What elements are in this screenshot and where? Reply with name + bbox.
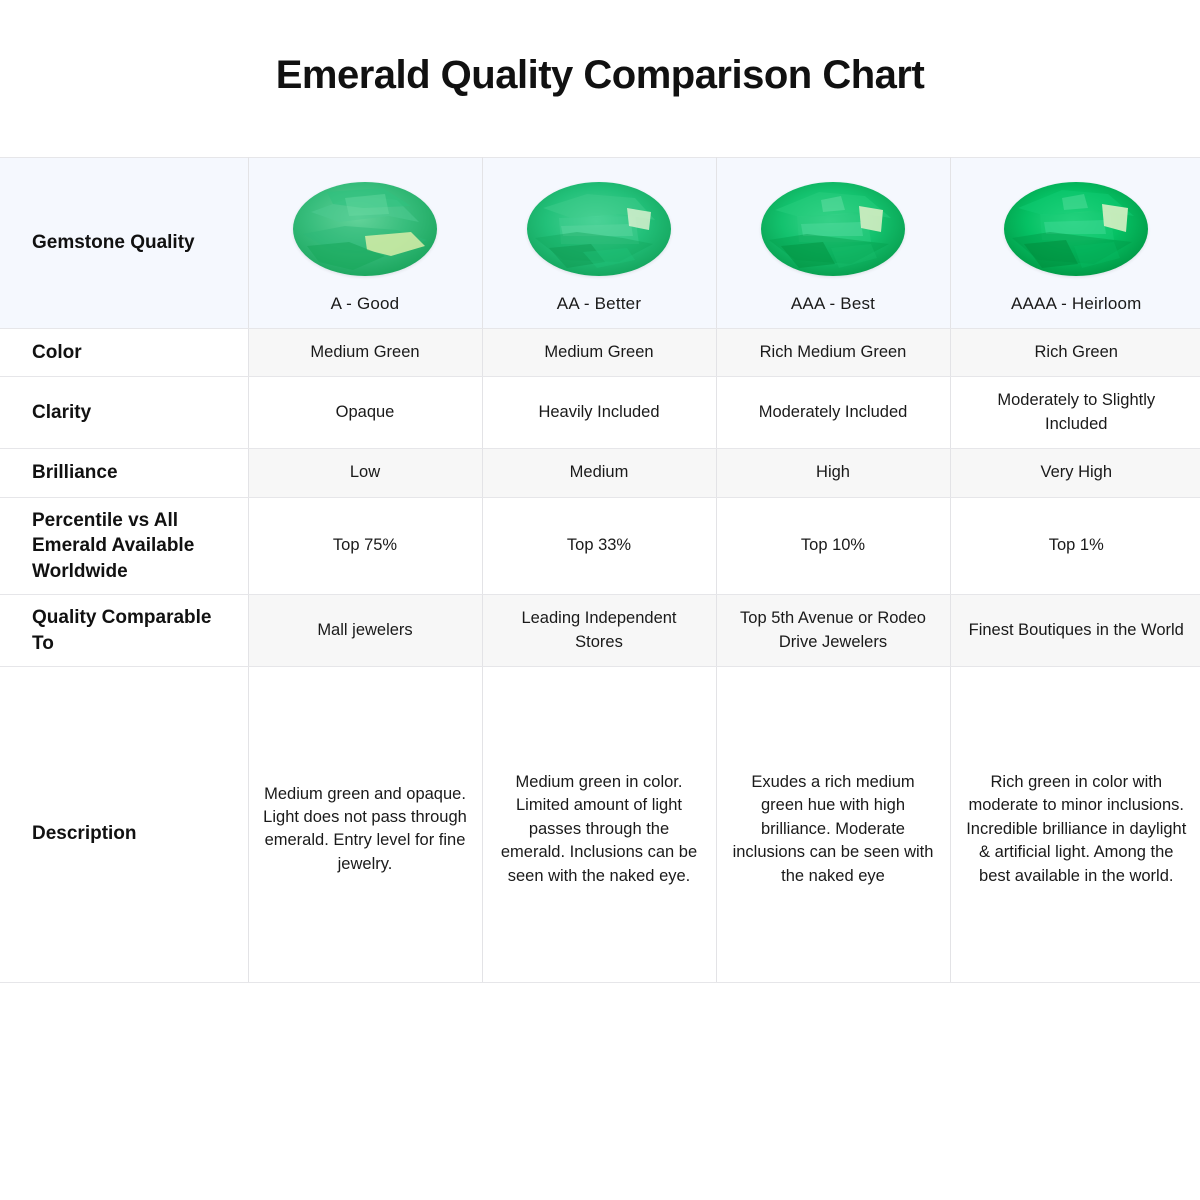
row-label-description: Description <box>0 666 248 982</box>
cell-clarity-aaa: Moderately Included <box>716 377 950 449</box>
gem-caption-aaaa: AAAA - Heirloom <box>1011 294 1142 314</box>
emerald-oval-aaaa-icon <box>1004 182 1148 276</box>
row-label-comparable: Quality Comparable To <box>0 595 248 667</box>
cell-percentile-aaaa: Top 1% <box>950 497 1200 594</box>
gem-caption-a: A - Good <box>331 294 400 314</box>
row-label-color: Color <box>0 329 248 377</box>
row-label-gemstone-quality: Gemstone Quality <box>0 158 248 329</box>
cell-comparable-aa: Leading Independent Stores <box>482 595 716 667</box>
table-row-percentile: Percentile vs All Emerald Available Worl… <box>0 497 1200 594</box>
cell-description-aaaa: Rich green in color with moderate to min… <box>950 666 1200 982</box>
row-label-clarity: Clarity <box>0 377 248 449</box>
table-row-clarity: Clarity Opaque Heavily Included Moderate… <box>0 377 1200 449</box>
cell-description-a: Medium green and opaque. Light does not … <box>248 666 482 982</box>
cell-comparable-a: Mall jewelers <box>248 595 482 667</box>
emerald-oval-aaa-icon <box>761 182 905 276</box>
gem-caption-aa: AA - Better <box>557 294 641 314</box>
cell-brilliance-aa: Medium <box>482 449 716 497</box>
cell-color-a: Medium Green <box>248 329 482 377</box>
page-title: Emerald Quality Comparison Chart <box>0 0 1200 98</box>
cell-brilliance-aaa: High <box>716 449 950 497</box>
cell-percentile-a: Top 75% <box>248 497 482 594</box>
emerald-oval-aa-icon <box>527 182 671 276</box>
table-row-gemstone-quality: Gemstone Quality <box>0 158 1200 329</box>
emerald-oval-a-icon <box>293 182 437 276</box>
cell-clarity-a: Opaque <box>248 377 482 449</box>
cell-percentile-aa: Top 33% <box>482 497 716 594</box>
cell-description-aaa: Exudes a rich medium green hue with high… <box>716 666 950 982</box>
cell-color-aaa: Rich Medium Green <box>716 329 950 377</box>
gem-caption-aaa: AAA - Best <box>791 294 875 314</box>
cell-comparable-aaaa: Finest Boutiques in the World <box>950 595 1200 667</box>
cell-clarity-aa: Heavily Included <box>482 377 716 449</box>
cell-color-aa: Medium Green <box>482 329 716 377</box>
cell-color-aaaa: Rich Green <box>950 329 1200 377</box>
cell-gemstone-aaaa: AAAA - Heirloom <box>950 158 1200 329</box>
cell-comparable-aaa: Top 5th Avenue or Rodeo Drive Jewelers <box>716 595 950 667</box>
row-label-percentile: Percentile vs All Emerald Available Worl… <box>0 497 248 594</box>
cell-gemstone-aa: AA - Better <box>482 158 716 329</box>
cell-gemstone-a: A - Good <box>248 158 482 329</box>
table-row-comparable: Quality Comparable To Mall jewelers Lead… <box>0 595 1200 667</box>
table-row-description: Description Medium green and opaque. Lig… <box>0 666 1200 982</box>
emerald-comparison-page: Emerald Quality Comparison Chart Gemston… <box>0 0 1200 1200</box>
cell-percentile-aaa: Top 10% <box>716 497 950 594</box>
table-row-brilliance: Brilliance Low Medium High Very High <box>0 449 1200 497</box>
comparison-table: Gemstone Quality <box>0 157 1200 983</box>
cell-gemstone-aaa: AAA - Best <box>716 158 950 329</box>
table-row-color: Color Medium Green Medium Green Rich Med… <box>0 329 1200 377</box>
cell-brilliance-aaaa: Very High <box>950 449 1200 497</box>
comparison-table-wrapper: Gemstone Quality <box>0 157 1200 1200</box>
row-label-brilliance: Brilliance <box>0 449 248 497</box>
cell-brilliance-a: Low <box>248 449 482 497</box>
cell-clarity-aaaa: Moderately to Slightly Included <box>950 377 1200 449</box>
cell-description-aa: Medium green in color. Limited amount of… <box>482 666 716 982</box>
